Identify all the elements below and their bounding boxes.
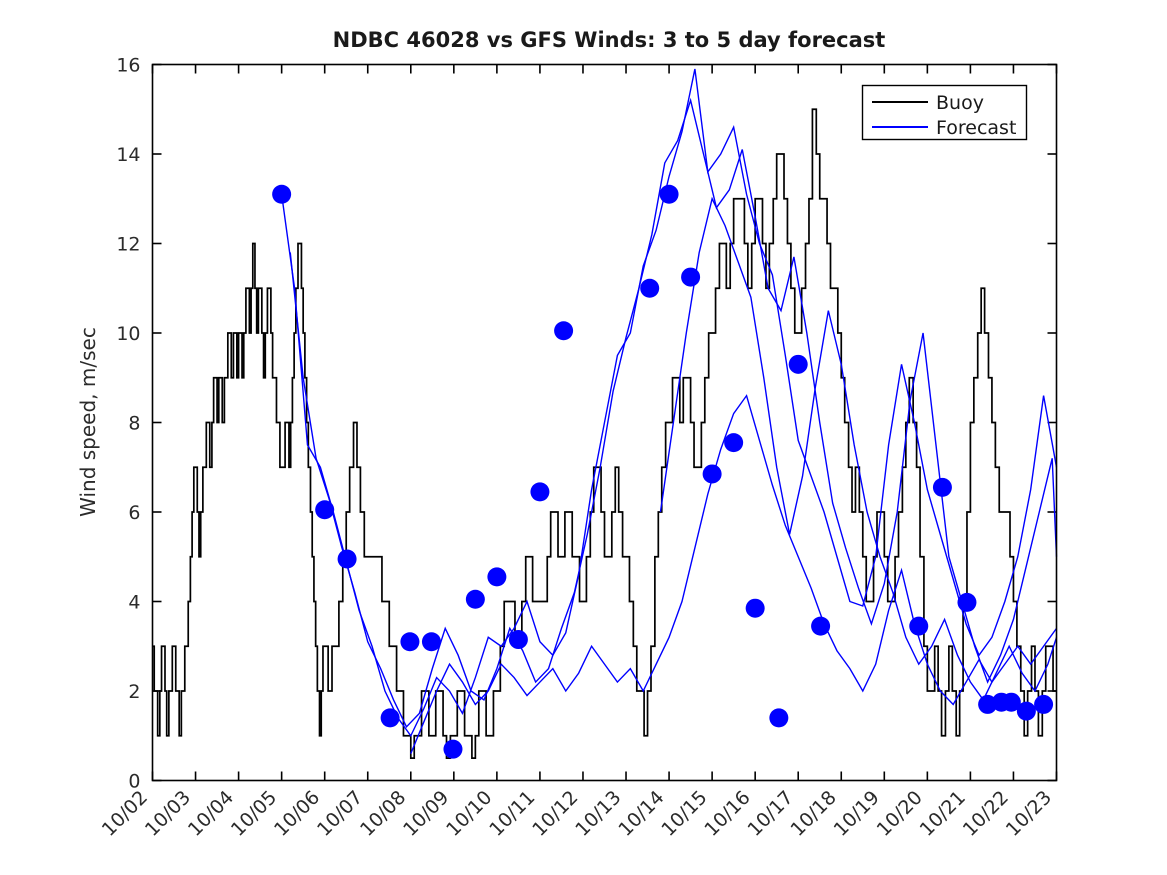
scatter-marker <box>466 590 485 609</box>
scatter-marker <box>681 268 700 287</box>
scatter-marker <box>381 708 400 727</box>
scatter-marker <box>1017 702 1036 721</box>
y-tick-label: 6 <box>128 502 140 524</box>
scatter-marker <box>422 632 441 651</box>
figure-canvas: NDBC 46028 vs GFS Winds: 3 to 5 day fore… <box>0 0 1167 875</box>
scatter-marker <box>338 549 357 568</box>
legend-label-forecast: Forecast <box>936 117 1016 139</box>
scatter-marker <box>724 433 743 452</box>
scatter-marker <box>811 617 830 636</box>
y-axis-label: Wind speed, m/sec <box>76 327 100 517</box>
scatter-marker <box>530 482 549 501</box>
chart-legend: BuoyForecast <box>863 86 1027 140</box>
scatter-marker <box>957 593 976 612</box>
scatter-marker <box>487 567 506 586</box>
scatter-marker <box>660 185 679 204</box>
y-tick-label: 14 <box>116 144 140 166</box>
y-tick-label: 2 <box>128 681 140 703</box>
y-tick-label: 10 <box>116 323 140 345</box>
y-tick-label: 4 <box>128 592 140 614</box>
y-tick-label: 8 <box>128 413 140 435</box>
scatter-marker <box>933 478 952 497</box>
scatter-marker <box>746 599 765 618</box>
scatter-marker <box>909 617 928 636</box>
scatter-marker <box>769 708 788 727</box>
scatter-marker <box>315 500 334 519</box>
scatter-marker <box>272 185 291 204</box>
chart-svg: NDBC 46028 vs GFS Winds: 3 to 5 day fore… <box>0 0 1167 875</box>
chart-title: NDBC 46028 vs GFS Winds: 3 to 5 day fore… <box>333 28 886 52</box>
scatter-marker <box>1034 695 1053 714</box>
scatter-marker <box>703 464 722 483</box>
scatter-marker <box>789 355 808 374</box>
scatter-marker <box>640 279 659 298</box>
scatter-marker <box>443 740 462 759</box>
scatter-marker <box>400 632 419 651</box>
scatter-marker <box>509 630 528 649</box>
legend-label-buoy: Buoy <box>936 92 984 114</box>
scatter-marker <box>554 321 573 340</box>
y-tick-label: 12 <box>116 234 140 256</box>
y-tick-label: 16 <box>116 55 140 77</box>
